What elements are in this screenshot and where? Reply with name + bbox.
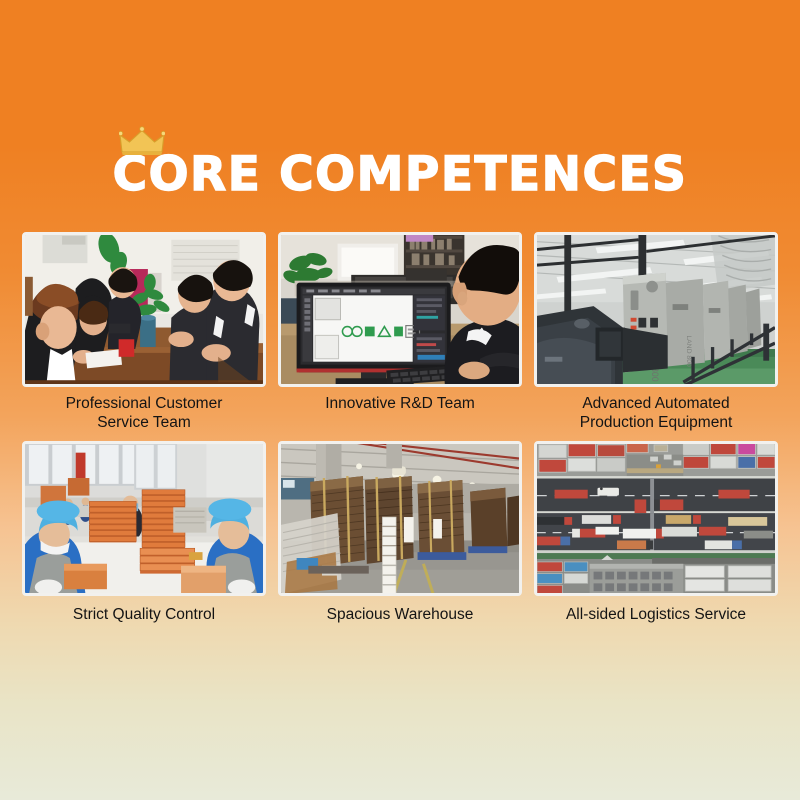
meeting-room-team-photo — [22, 232, 266, 387]
competences-grid: Professional Customer Service Team — [22, 232, 778, 624]
warehouse-pallets-photo — [278, 441, 522, 596]
card-professional-customer-service-team[interactable]: Professional Customer Service Team — [22, 232, 266, 433]
aerial-container-port-photo — [534, 441, 778, 596]
card-caption: Innovative R&D Team — [278, 394, 522, 413]
card-caption: Advanced Automated Production Equipment — [534, 394, 778, 433]
title-wrap: CORE COMPETENCES — [113, 150, 688, 199]
card-spacious-warehouse[interactable]: Spacious Warehouse — [278, 441, 522, 624]
page-header: CORE COMPETENCES — [0, 150, 800, 199]
card-caption: Spacious Warehouse — [278, 603, 522, 624]
card-caption: All-sided Logistics Service — [534, 603, 778, 624]
card-caption: Professional Customer Service Team — [22, 394, 266, 433]
quality-inspection-workers-photo — [22, 441, 266, 596]
card-all-sided-logistics-service[interactable]: All-sided Logistics Service — [534, 441, 778, 624]
printing-press-factory-photo: LAND 800 LAND 800 — [534, 232, 778, 387]
designer-at-monitor-photo — [278, 232, 522, 387]
card-strict-quality-control[interactable]: Strict Quality Control — [22, 441, 266, 624]
card-innovative-rd-team[interactable]: Innovative R&D Team — [278, 232, 522, 433]
page-title: CORE COMPETENCES — [113, 150, 688, 199]
svg-text:LAND 800: LAND 800 — [685, 335, 692, 367]
card-caption: Strict Quality Control — [22, 603, 266, 624]
crown-icon — [119, 126, 165, 156]
card-advanced-automated-production-equipment[interactable]: LAND 800 LAND 800 — [534, 232, 778, 433]
